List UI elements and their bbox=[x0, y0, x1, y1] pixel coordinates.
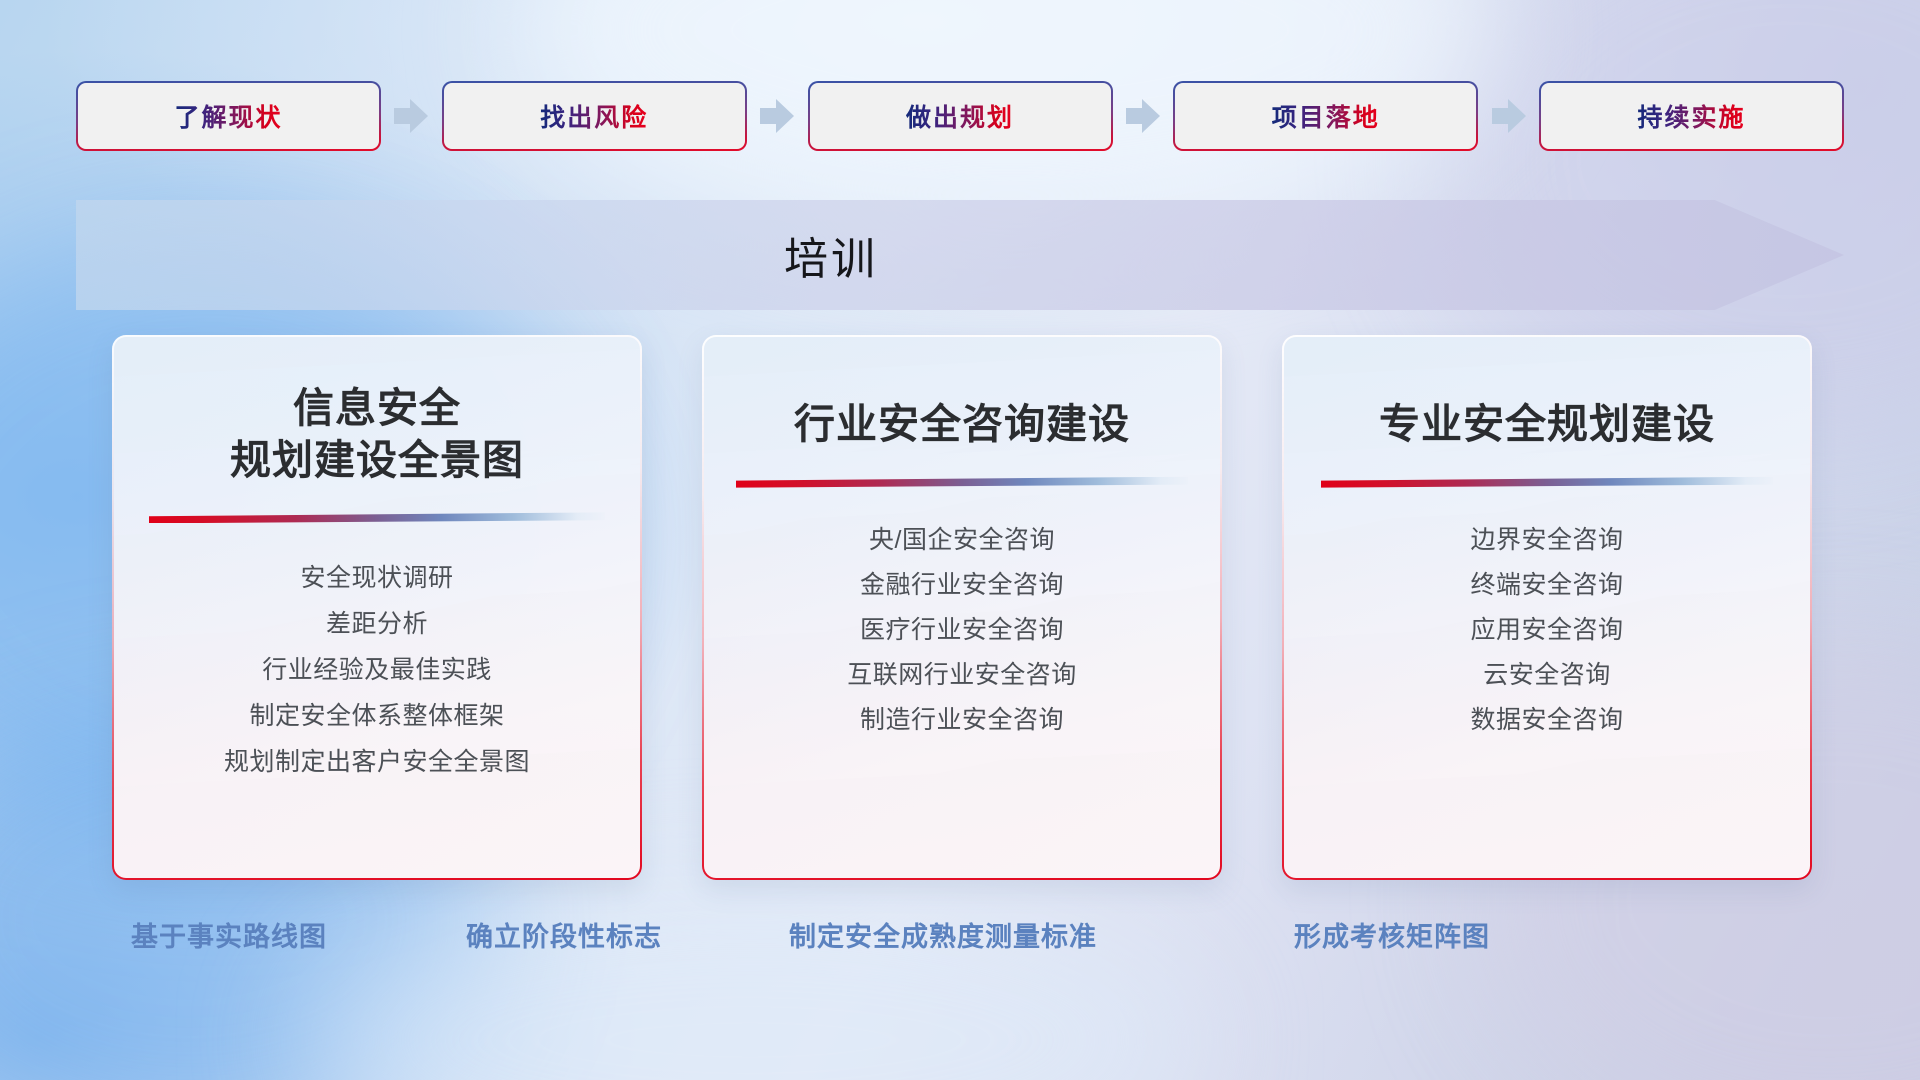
list-item: 制定安全体系整体框架 bbox=[249, 693, 504, 739]
card-1-divider bbox=[149, 512, 605, 523]
card-2-list: 央/国企安全咨询 金融行业安全咨询 医疗行业安全咨询 互联网行业安全咨询 制造行… bbox=[704, 518, 1220, 743]
list-item: 应用安全咨询 bbox=[1470, 608, 1623, 653]
training-banner-arrow: 培训 bbox=[76, 200, 1844, 310]
list-item: 规划制定出客户安全全景图 bbox=[224, 739, 530, 785]
cards-row: 信息安全 规划建设全景图 安全现状调研 差距分析 行业经验及最佳实践 制定安全体… bbox=[112, 335, 1812, 880]
list-item: 数据安全咨询 bbox=[1470, 698, 1623, 743]
arrow-head bbox=[1508, 99, 1526, 133]
step-arrow-right-icon-4 bbox=[1492, 99, 1526, 133]
step-pill-5[interactable]: 持续实施 bbox=[1539, 81, 1844, 151]
card-3-list: 边界安全咨询 终端安全咨询 应用安全咨询 云安全咨询 数据安全咨询 bbox=[1284, 518, 1810, 743]
arrow-head bbox=[1142, 99, 1160, 133]
outcome-caption-row: 基于事实路线图 确立阶段性标志 制定安全成熟度测量标准 形成考核矩阵图 bbox=[0, 915, 1920, 963]
step-pill-5-label: 持续实施 bbox=[1637, 98, 1745, 134]
background-glow-bottom bbox=[300, 880, 1200, 1080]
list-item: 安全现状调研 bbox=[300, 555, 453, 601]
list-item: 边界安全咨询 bbox=[1470, 518, 1623, 563]
step-pill-1-label: 了解现状 bbox=[174, 98, 282, 134]
step-pill-3[interactable]: 做出规划 bbox=[808, 81, 1113, 151]
process-step-row: 了解现状 找出风险 做出规划 项目落地 持续实施 bbox=[76, 80, 1844, 152]
step-arrow-right-icon-2 bbox=[760, 99, 794, 133]
step-pill-2-label: 找出风险 bbox=[540, 98, 648, 134]
banner-title: 培训 bbox=[76, 200, 1586, 310]
step-pill-3-label: 做出规划 bbox=[906, 98, 1014, 134]
step-pill-1[interactable]: 了解现状 bbox=[76, 81, 381, 151]
list-item: 行业经验及最佳实践 bbox=[262, 647, 492, 693]
divider-gradient-bar bbox=[1321, 477, 1773, 488]
list-item: 终端安全咨询 bbox=[1470, 563, 1623, 608]
list-item: 医疗行业安全咨询 bbox=[860, 608, 1064, 653]
list-item: 制造行业安全咨询 bbox=[860, 698, 1064, 743]
card-1-title: 信息安全 规划建设全景图 bbox=[206, 337, 548, 486]
card-information-security-blueprint[interactable]: 信息安全 规划建设全景图 安全现状调研 差距分析 行业经验及最佳实践 制定安全体… bbox=[112, 335, 642, 880]
list-item: 互联网行业安全咨询 bbox=[847, 653, 1077, 698]
list-item: 差距分析 bbox=[326, 601, 428, 647]
card-2-divider bbox=[736, 477, 1188, 488]
step-pill-2[interactable]: 找出风险 bbox=[442, 81, 747, 151]
card-professional-security-planning[interactable]: 专业安全规划建设 边界安全咨询 终端安全咨询 应用安全咨询 云安全咨询 数据安全… bbox=[1282, 335, 1812, 880]
list-item: 云安全咨询 bbox=[1483, 653, 1611, 698]
step-arrow-right-icon-3 bbox=[1126, 99, 1160, 133]
step-pill-4[interactable]: 项目落地 bbox=[1173, 81, 1478, 151]
step-pill-4-label: 项目落地 bbox=[1272, 98, 1380, 134]
card-industry-security-consulting[interactable]: 行业安全咨询建设 央/国企安全咨询 金融行业安全咨询 医疗行业安全咨询 互联网行… bbox=[702, 335, 1222, 880]
caption-maturity-standard: 制定安全成熟度测量标准 bbox=[789, 915, 1097, 954]
step-arrow-right-icon-1 bbox=[394, 99, 428, 133]
card-2-title: 行业安全咨询建设 bbox=[770, 337, 1154, 451]
caption-milestones: 确立阶段性标志 bbox=[466, 915, 662, 954]
arrow-head bbox=[410, 99, 428, 133]
card-3-title: 专业安全规划建设 bbox=[1355, 337, 1739, 451]
divider-gradient-bar bbox=[149, 512, 605, 523]
caption-assessment-matrix: 形成考核矩阵图 bbox=[1294, 915, 1490, 954]
card-3-divider bbox=[1321, 477, 1773, 488]
divider-gradient-bar bbox=[736, 477, 1188, 488]
list-item: 金融行业安全咨询 bbox=[860, 563, 1064, 608]
arrow-head bbox=[776, 99, 794, 133]
card-1-list: 安全现状调研 差距分析 行业经验及最佳实践 制定安全体系整体框架 规划制定出客户… bbox=[114, 555, 640, 785]
caption-roadmap: 基于事实路线图 bbox=[131, 915, 327, 954]
list-item: 央/国企安全咨询 bbox=[869, 518, 1055, 563]
